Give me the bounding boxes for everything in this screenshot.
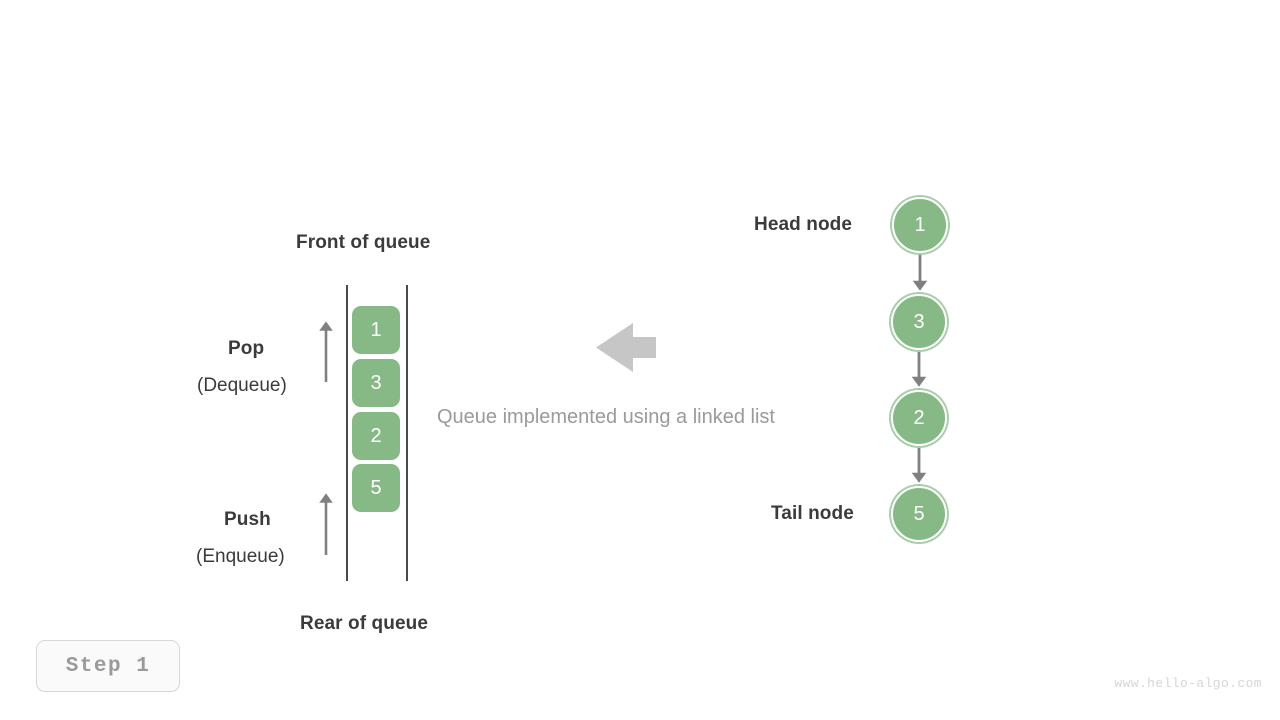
queue-item: 2	[352, 412, 400, 460]
queue-rear-label: Rear of queue	[300, 613, 428, 635]
head-node-label: Head node	[754, 214, 852, 236]
push-sublabel: (Enqueue)	[196, 546, 285, 568]
diagram-canvas: Front of queue Rear of queue Pop (Dequeu…	[0, 0, 1280, 720]
left-block-arrow-icon	[596, 323, 656, 372]
figure-caption: Queue implemented using a linked list	[437, 406, 775, 429]
linked-list-node: 1	[892, 197, 948, 253]
queue-rail-left	[346, 285, 348, 581]
linked-list-node: 5	[891, 486, 947, 542]
queue-rail-right	[406, 285, 408, 581]
queue-front-label: Front of queue	[296, 232, 430, 254]
queue-item: 1	[352, 306, 400, 354]
linked-list-node: 3	[891, 294, 947, 350]
queue-item: 5	[352, 464, 400, 512]
linked-list-node: 2	[891, 390, 947, 446]
arrows-overlay	[0, 0, 1280, 720]
queue-item: 3	[352, 359, 400, 407]
step-badge: Step 1	[36, 640, 180, 692]
watermark: www.hello-algo.com	[1114, 676, 1262, 691]
pop-sublabel: (Dequeue)	[197, 375, 287, 397]
push-label: Push	[224, 509, 271, 531]
pop-label: Pop	[228, 338, 264, 360]
tail-node-label: Tail node	[771, 503, 854, 525]
